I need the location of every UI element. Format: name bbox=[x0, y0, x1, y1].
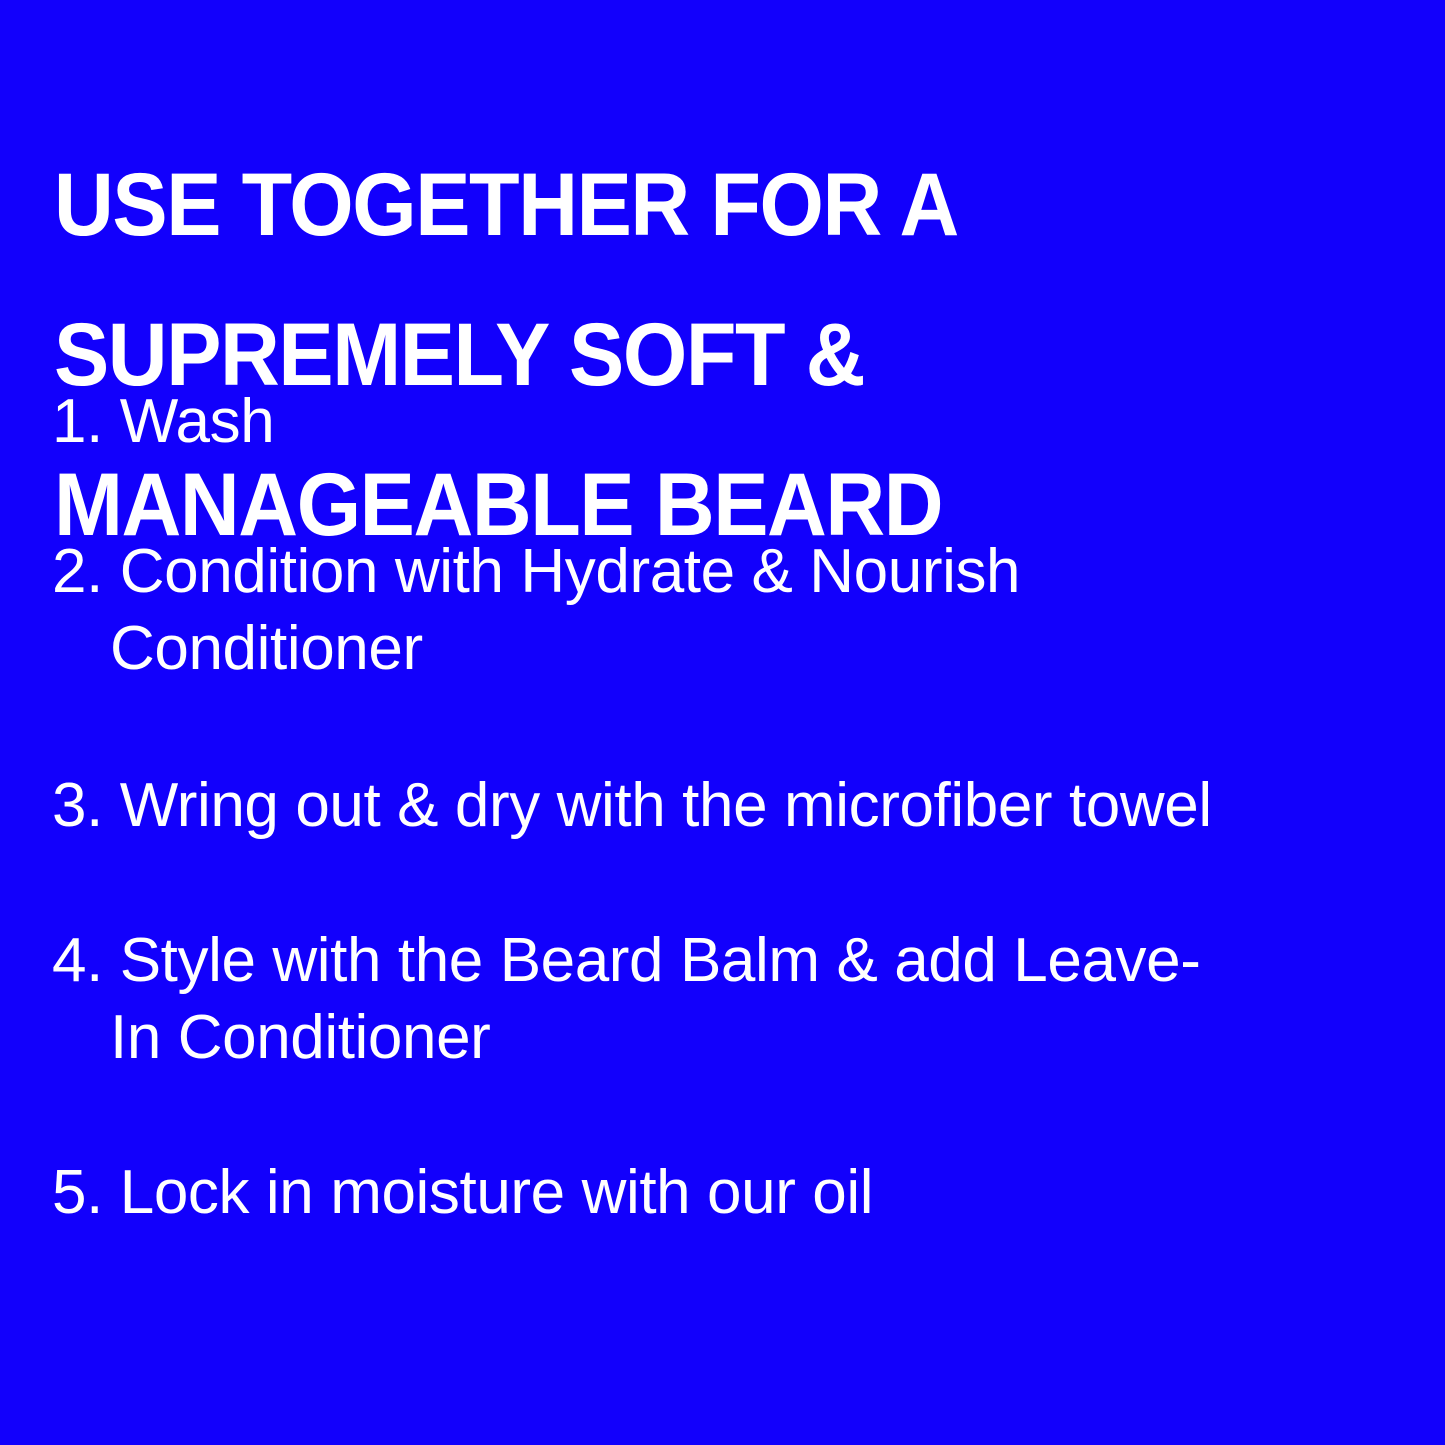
list-item: 3. Wring out & dry with the microfiber t… bbox=[52, 767, 1232, 844]
page-title-line-1: USE TOGETHER FOR A bbox=[54, 167, 984, 242]
instruction-panel: USE TOGETHER FOR A SUPREMELY SOFT & MANA… bbox=[0, 0, 1445, 1445]
list-item: 2. Condition with Hydrate & Nourish Cond… bbox=[52, 533, 1232, 687]
page-title-line-2: SUPREMELY SOFT & bbox=[54, 317, 984, 392]
list-item: 5. Lock in moisture with our oil bbox=[52, 1154, 1232, 1231]
list-item: 1. Wash bbox=[52, 383, 1232, 460]
steps-list: 1. Wash 2. Condition with Hydrate & Nour… bbox=[52, 383, 1232, 1231]
list-item: 4. Style with the Beard Balm & add Leave… bbox=[52, 922, 1232, 1076]
